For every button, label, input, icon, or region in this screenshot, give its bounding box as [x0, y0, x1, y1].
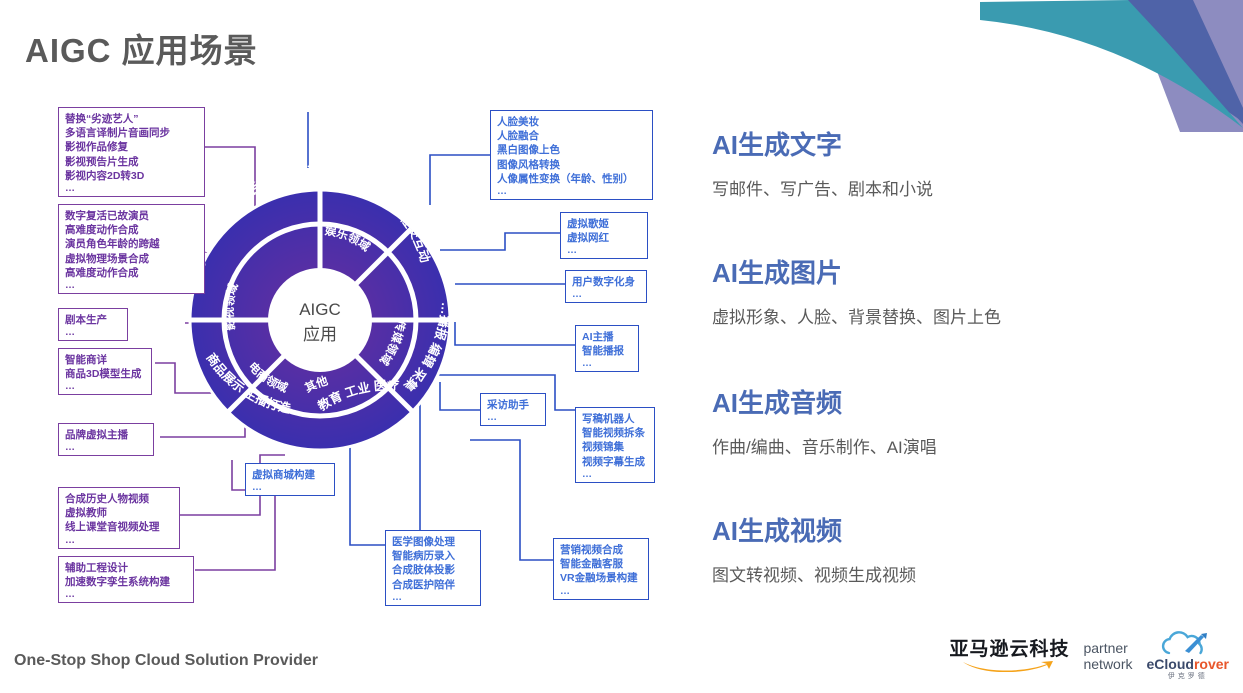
- callout-ellipsis: …: [65, 589, 187, 600]
- callout-virtual-idol[interactable]: 虚拟歌姬 虚拟网红 …: [560, 212, 648, 259]
- callout-ellipsis: …: [572, 289, 640, 300]
- callout-ellipsis: …: [65, 183, 198, 194]
- footer-tagline: One-Stop Shop Cloud Solution Provider: [14, 652, 318, 670]
- capability-heading-image: AI生成图片: [712, 253, 842, 290]
- capability-subtitle-video: 图文转视频、视频生成视频: [712, 561, 916, 586]
- callout-line: 采访助手: [487, 398, 539, 412]
- aws-china-label: 亚马逊云科技: [949, 640, 1069, 660]
- callout-line: 写稿机器人: [582, 412, 648, 426]
- aws-china-logo: 亚马逊云科技: [949, 640, 1069, 672]
- ecloudrover-chinese-label: 伊克罗德: [1168, 672, 1208, 681]
- callout-line: 医学图像处理: [392, 535, 474, 549]
- callout-ellipsis: …: [65, 535, 173, 546]
- capability-subtitle-audio: 作曲/编曲、音乐制作、AI演唱: [712, 433, 937, 458]
- callout-ellipsis: …: [560, 586, 642, 597]
- callout-line: 视频字幕生成: [582, 455, 648, 469]
- callout-line: 人脸美妆: [497, 115, 646, 129]
- corner-decoration: [980, 0, 1243, 132]
- partner-line-1: partner: [1083, 640, 1132, 656]
- callout-line: 合成肢体投影: [392, 563, 474, 577]
- callout-engineering-design[interactable]: 辅助工程设计 加速数字孪生系统构建 …: [58, 556, 194, 603]
- callout-line: 智能金融客服: [560, 557, 642, 571]
- callout-digital-actor[interactable]: 数字复活已故演员 高难度动作合成 演员角色年龄的跨越 虚拟物理场景合成 高难度动…: [58, 204, 205, 294]
- callout-smart-merchandising[interactable]: 智能商详 商品3D模型生成 …: [58, 348, 152, 395]
- callout-line: 黑白图像上色: [497, 143, 646, 157]
- callout-line: 品牌虚拟主播: [65, 428, 147, 442]
- callout-line: 虚拟物理场景合成: [65, 252, 198, 266]
- callout-line: 线上课堂音视频处理: [65, 520, 173, 534]
- partner-line-2: network: [1083, 656, 1132, 672]
- callout-line: 合成医护陪伴: [392, 578, 474, 592]
- aws-partner-network-label: partner network: [1083, 640, 1132, 672]
- callout-user-avatar[interactable]: 用户数字化身 …: [565, 270, 647, 303]
- callout-ellipsis: …: [65, 280, 198, 291]
- ecloudrover-logo: eCloudrover 伊克罗德: [1147, 631, 1229, 681]
- callout-line: 用户数字化身: [572, 275, 640, 289]
- callout-ellipsis: …: [252, 482, 328, 493]
- callout-line: 剧本生产: [65, 313, 121, 327]
- callout-ellipsis: …: [582, 358, 632, 369]
- callout-ai-anchor[interactable]: AI主播 智能播报 …: [575, 325, 639, 372]
- callout-writing-robot[interactable]: 写稿机器人 智能视频拆条 视频锦集 视频字幕生成 …: [575, 407, 655, 483]
- callout-ellipsis: …: [65, 442, 147, 453]
- capability-subtitle-image: 虚拟形象、人脸、背景替换、图片上色: [712, 303, 1001, 328]
- callout-line: 智能病历录入: [392, 549, 474, 563]
- callout-line: 影视内容2D转3D: [65, 169, 198, 183]
- callout-line: 人像属性变换（年龄、性别）: [497, 172, 646, 186]
- callout-ellipsis: …: [567, 245, 641, 256]
- capability-heading-text: AI生成文字: [712, 125, 842, 162]
- callout-line: 合成历史人物视频: [65, 492, 173, 506]
- callout-line: 演员角色年龄的跨越: [65, 237, 198, 251]
- callout-line: 影视预告片生成: [65, 155, 198, 169]
- callout-line: 虚拟商城构建: [252, 468, 328, 482]
- callout-marketing-video[interactable]: 营销视频合成 智能金融客服 VR金融场景构建 …: [553, 538, 649, 600]
- callout-line: 智能播报: [582, 344, 632, 358]
- callout-line: VR金融场景构建: [560, 571, 642, 585]
- wheel-center-line1: AIGC: [299, 300, 341, 319]
- callout-ellipsis: …: [497, 186, 646, 197]
- callout-line: 视频锦集: [582, 440, 648, 454]
- cloud-rocket-icon: [1155, 631, 1221, 657]
- callout-face-beauty[interactable]: 人脸美妆 人脸融合 黑白图像上色 图像风格转换 人像属性变换（年龄、性别） …: [490, 110, 653, 200]
- footer-logos: 亚马逊云科技 partner network eCloudrover 伊克罗德: [949, 628, 1229, 684]
- ecloud-part-2: rover: [1194, 656, 1229, 672]
- callout-line: 图像风格转换: [497, 158, 646, 172]
- callout-ellipsis: …: [392, 592, 474, 603]
- callout-line: 多语言译制片音画同步: [65, 126, 198, 140]
- callout-line: 替换“劣迹艺人”: [65, 112, 198, 126]
- callout-history-figure-video[interactable]: 合成历史人物视频 虚拟教师 线上课堂音视频处理 …: [58, 487, 180, 549]
- callout-film-restoration[interactable]: 替换“劣迹艺人” 多语言译制片音画同步 影视作品修复 影视预告片生成 影视内容2…: [58, 107, 205, 197]
- capability-heading-video: AI生成视频: [712, 511, 842, 548]
- callout-line: 营销视频合成: [560, 543, 642, 557]
- callout-line: 虚拟教师: [65, 506, 173, 520]
- capability-subtitle-text: 写邮件、写广告、剧本和小说: [712, 175, 933, 200]
- wheel-center-line2: 应用: [303, 325, 337, 344]
- callout-ellipsis: …: [487, 412, 539, 423]
- callout-ellipsis: …: [65, 327, 121, 338]
- callout-interview-assistant[interactable]: 采访助手 …: [480, 393, 546, 426]
- callout-line: AI主播: [582, 330, 632, 344]
- callout-line: 智能视频拆条: [582, 426, 648, 440]
- callout-line: 高难度动作合成: [65, 266, 198, 280]
- callout-line: 人脸融合: [497, 129, 646, 143]
- ecloud-part-1: eCloud: [1147, 656, 1194, 672]
- callout-brand-virtual-anchor[interactable]: 品牌虚拟主播 …: [58, 423, 154, 456]
- slide-canvas: AIGC 应用场景: [0, 0, 1243, 693]
- callout-medical-imaging[interactable]: 医学图像处理 智能病历录入 合成肢体投影 合成医护陪伴 …: [385, 530, 481, 606]
- callout-ellipsis: …: [65, 381, 145, 392]
- callout-line: 数字复活已故演员: [65, 209, 198, 223]
- callout-line: 辅助工程设计: [65, 561, 187, 575]
- callout-virtual-mall[interactable]: 虚拟商城构建 …: [245, 463, 335, 496]
- callout-line: 智能商详: [65, 353, 145, 367]
- callout-ellipsis: …: [582, 469, 648, 480]
- callout-line: 虚拟网红: [567, 231, 641, 245]
- capability-heading-audio: AI生成音频: [712, 383, 842, 420]
- callout-line: 商品3D模型生成: [65, 367, 145, 381]
- amazon-smile-icon: [961, 660, 1057, 672]
- callout-line: 虚拟歌姬: [567, 217, 641, 231]
- ecloudrover-wordmark: eCloudrover: [1147, 657, 1229, 672]
- callout-line: 加速数字孪生系统构建: [65, 575, 187, 589]
- callout-line: 高难度动作合成: [65, 223, 198, 237]
- callout-script-production[interactable]: 剧本生产 …: [58, 308, 128, 341]
- callout-line: 影视作品修复: [65, 140, 198, 154]
